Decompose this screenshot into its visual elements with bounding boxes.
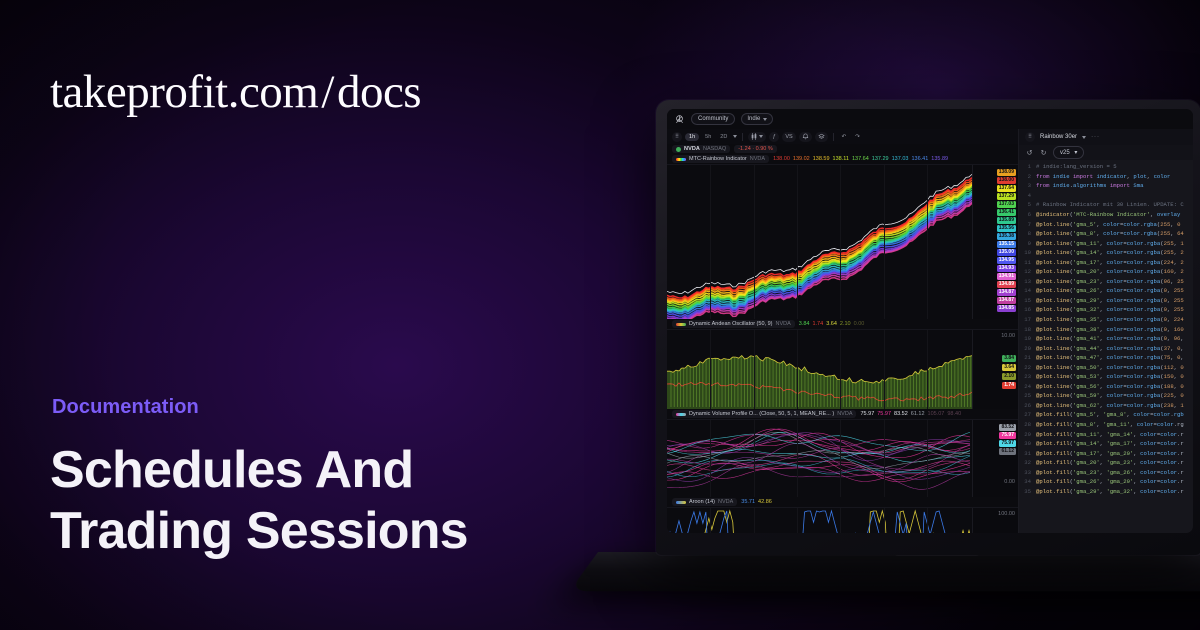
price-tag: 134.89 bbox=[997, 281, 1016, 288]
grip-icon[interactable]: ⠿ bbox=[672, 132, 682, 142]
code-line-number: 28 bbox=[1019, 421, 1036, 428]
brand-section: docs bbox=[337, 66, 421, 118]
value-tag: 61.12 bbox=[999, 448, 1016, 455]
code-line-text: @plot.fill('gma_26', 'gma_29', color=col… bbox=[1036, 478, 1193, 485]
code-line[interactable]: 34@plot.fill('gma_26', 'gma_29', color=c… bbox=[1019, 477, 1193, 487]
code-line-text: @plot.fill('gma_17', 'gma_20', color=col… bbox=[1036, 450, 1193, 457]
chart-panel: ⠿ 1h 5h 2D ƒ VS bbox=[667, 129, 1019, 533]
code-line[interactable]: 29@plot.fill('gma_11', 'gma_14', color=c… bbox=[1019, 429, 1193, 439]
gridline bbox=[710, 330, 711, 409]
value-tag: 1.74 bbox=[1002, 382, 1016, 389]
code-line-number: 10 bbox=[1019, 249, 1036, 256]
code-line[interactable]: 17@plot.line('gma_35', color=color.rgba(… bbox=[1019, 315, 1193, 325]
code-line-text: @plot.fill('gma_11', 'gma_14', color=col… bbox=[1036, 431, 1193, 438]
price-axis[interactable]: 138.09138.00137.64137.29137.03136.41135.… bbox=[972, 165, 1018, 319]
overlay-value: 138.11 bbox=[833, 156, 849, 162]
code-line-text: @plot.line('gma_23', color=color.rgba(96… bbox=[1036, 278, 1193, 285]
hero-content: takeprofit.com/docs Documentation Schedu… bbox=[0, 0, 620, 630]
gridline bbox=[927, 330, 928, 409]
code-line[interactable]: 10@plot.line('gma_14', color=color.rgba(… bbox=[1019, 248, 1193, 258]
andean-chip[interactable]: Dynamic Andean Oscillator (50, 9) NVDA bbox=[672, 320, 795, 328]
overlay-value: 137.64 bbox=[852, 156, 869, 162]
gridline bbox=[840, 165, 841, 319]
code-line-text: @plot.fill('gma_20', 'gma_23', color=col… bbox=[1036, 459, 1193, 466]
code-line-text: @plot.fill('gma_5', 'gma_8', color=color… bbox=[1036, 411, 1193, 418]
overlay-value: 137.03 bbox=[892, 156, 909, 162]
overlay-value: 138.59 bbox=[813, 156, 830, 162]
code-line-number: 8 bbox=[1019, 230, 1036, 237]
code-line-number: 23 bbox=[1019, 373, 1036, 380]
laptop-base bbox=[569, 552, 1200, 591]
price-tag: 135.00 bbox=[997, 249, 1016, 256]
brand-separator: / bbox=[318, 66, 337, 118]
code-line-text: @plot.line('gma_50', color=color.rgba(11… bbox=[1036, 364, 1193, 371]
andean-name: Dynamic Andean Oscillator (50, 9) bbox=[689, 321, 772, 327]
legend-value: 1.74 bbox=[812, 321, 823, 327]
code-line-number: 34 bbox=[1019, 478, 1036, 485]
symbol-exchange: NASDAQ bbox=[703, 146, 726, 152]
page-eyebrow: Documentation bbox=[52, 396, 199, 419]
code-line[interactable]: 3from indie.algorithms import Sma bbox=[1019, 181, 1193, 191]
gridline bbox=[754, 165, 755, 319]
gridline bbox=[754, 330, 755, 409]
andean-symbol: NVDA bbox=[775, 321, 790, 327]
code-line-text: @plot.fill('gma_8', 'gma_11', color=colo… bbox=[1036, 421, 1193, 428]
rainbow-gradient-icon bbox=[676, 158, 686, 161]
price-tag: 137.03 bbox=[997, 201, 1016, 208]
code-line-number: 18 bbox=[1019, 326, 1036, 333]
value-tag: 75.97 bbox=[999, 440, 1016, 447]
price-plot-area[interactable] bbox=[667, 165, 972, 319]
gridline bbox=[884, 330, 885, 409]
code-line-number: 11 bbox=[1019, 259, 1036, 266]
code-line-number: 6 bbox=[1019, 211, 1036, 218]
code-line-number: 17 bbox=[1019, 316, 1036, 323]
aroon-pane[interactable]: 100.00 0.00 42.8635.71 bbox=[667, 507, 1018, 533]
gridline bbox=[797, 508, 798, 533]
price-tag: 137.29 bbox=[997, 193, 1016, 200]
value-tag: 75.97 bbox=[999, 432, 1016, 439]
andean-plot-area[interactable] bbox=[667, 330, 972, 409]
price-tag: 136.41 bbox=[997, 209, 1016, 216]
code-line-text: # indie:lang_version = 5 bbox=[1036, 163, 1193, 170]
page-title: Schedules And Trading Sessions bbox=[50, 440, 580, 562]
toolbar-divider-2 bbox=[833, 133, 834, 141]
legend-value: 105.07 bbox=[928, 411, 945, 417]
aroon-chip[interactable]: Aroon (14) NVDA bbox=[672, 498, 737, 506]
volume-plot-area[interactable] bbox=[667, 420, 972, 497]
overlay-value: 139.02 bbox=[793, 156, 810, 162]
script-chevron-down-icon[interactable] bbox=[1082, 136, 1086, 139]
price-tag: 135.38 bbox=[997, 233, 1016, 240]
community-button[interactable]: Community bbox=[691, 113, 735, 125]
code-line-text: @plot.line('gma_26', color=color.rgba(0,… bbox=[1036, 287, 1193, 294]
brand-name: takeprofit.com bbox=[50, 66, 318, 118]
indie-selector[interactable]: Indie bbox=[741, 113, 773, 125]
value-tag: 2.10 bbox=[1002, 373, 1016, 380]
volume-wave bbox=[667, 467, 970, 481]
oscillator-icon bbox=[676, 323, 686, 326]
aroon-scale-top: 100.00 bbox=[998, 511, 1015, 517]
takeprofit-logo-icon[interactable] bbox=[674, 114, 685, 125]
timeframe-chevron-down-icon[interactable] bbox=[733, 135, 737, 138]
code-line-text: @plot.line('gma_35', color=color.rgba(0,… bbox=[1036, 316, 1193, 323]
code-line-number: 27 bbox=[1019, 411, 1036, 418]
code-line-number: 25 bbox=[1019, 392, 1036, 399]
legend-value: 75.97 bbox=[877, 411, 891, 417]
compare-button[interactable]: VS bbox=[782, 132, 795, 142]
code-line-number: 32 bbox=[1019, 459, 1036, 466]
code-line-number: 26 bbox=[1019, 402, 1036, 409]
aroon-values: 35.7142.86 bbox=[741, 499, 772, 505]
undo-arrow-icon[interactable]: ↶ bbox=[839, 132, 850, 142]
code-line-text: @plot.line('gma_5', color=color.rgba(255… bbox=[1036, 221, 1193, 228]
toolbar-divider bbox=[742, 133, 743, 141]
code-grip-icon[interactable]: ⠿ bbox=[1025, 132, 1035, 142]
price-tag: 135.15 bbox=[997, 241, 1016, 248]
code-line-number: 9 bbox=[1019, 240, 1036, 247]
code-line[interactable]: 32@plot.fill('gma_20', 'gma_23', color=c… bbox=[1019, 458, 1193, 468]
code-editor[interactable]: 1# indie:lang_version = 52from indie imp… bbox=[1019, 160, 1193, 533]
code-line-text: @plot.line('gma_14', color=color.rgba(25… bbox=[1036, 249, 1193, 256]
candlestick-icon[interactable] bbox=[748, 132, 766, 142]
aroon-name: Aroon (14) bbox=[689, 499, 715, 505]
volume-legend: Dynamic Volume Profile O... (Close, 50, … bbox=[667, 409, 1018, 419]
page-title-line1: Schedules And bbox=[50, 441, 413, 499]
code-line-text: @plot.line('gma_32', color=color.rgba(0,… bbox=[1036, 306, 1193, 313]
gridline bbox=[840, 420, 841, 497]
code-line[interactable]: 6@indicator('MTC-Rainbow Indicator', ove… bbox=[1019, 210, 1193, 220]
volume-chip[interactable]: Dynamic Volume Profile O... (Close, 50, … bbox=[672, 410, 856, 418]
volume-scale-bottom: 0.00 bbox=[1004, 479, 1015, 485]
code-undo-arrow-icon[interactable]: ↺ bbox=[1025, 148, 1034, 157]
gridline bbox=[754, 420, 755, 497]
code-line[interactable]: 27@plot.fill('gma_5', 'gma_8', color=col… bbox=[1019, 410, 1193, 420]
overlay-name: MTC-Rainbow Indicator bbox=[689, 156, 747, 162]
code-line-number: 35 bbox=[1019, 488, 1036, 495]
volume-name: Dynamic Volume Profile O... (Close, 50, … bbox=[689, 411, 834, 417]
andean-scale-top: 10.00 bbox=[1001, 333, 1015, 339]
script-name[interactable]: Rainbow 30er bbox=[1040, 134, 1077, 140]
code-line-text: @plot.fill('gma_23', 'gma_26', color=col… bbox=[1036, 469, 1193, 476]
legend-value: 2.10 bbox=[840, 321, 851, 327]
code-line[interactable]: 25@plot.line('gma_59', color=color.rgba(… bbox=[1019, 391, 1193, 401]
aroon-symbol: NVDA bbox=[718, 499, 733, 505]
gridline bbox=[927, 165, 928, 319]
code-line-number: 5 bbox=[1019, 201, 1036, 208]
version-label: v25 bbox=[1060, 150, 1070, 156]
code-line[interactable]: 14@plot.line('gma_26', color=color.rgba(… bbox=[1019, 286, 1193, 296]
code-panel: ⠿ Rainbow 30er ··· ↺ ↻ v25 ▾ 1# indie:la… bbox=[1019, 129, 1193, 533]
code-line-number: 3 bbox=[1019, 182, 1036, 189]
price-tag: 134.95 bbox=[997, 257, 1016, 264]
symbol-chip[interactable]: NVDA NASDAQ bbox=[672, 145, 730, 153]
code-line-number: 24 bbox=[1019, 383, 1036, 390]
andean-pane[interactable]: 10.00 3.843.642.101.74 bbox=[667, 329, 1018, 409]
price-tag: 134.87 bbox=[997, 289, 1016, 296]
code-line[interactable]: 15@plot.line('gma_29', color=color.rgba(… bbox=[1019, 296, 1193, 306]
code-subheader: ↺ ↻ v25 ▾ bbox=[1019, 145, 1193, 160]
app-topbar: Community Indie bbox=[667, 109, 1193, 129]
code-line[interactable]: 1# indie:lang_version = 5 bbox=[1019, 162, 1193, 172]
code-line-number: 4 bbox=[1019, 192, 1036, 199]
brand-wordmark: takeprofit.com/docs bbox=[50, 68, 421, 117]
andean-values: 3.841.743.642.100.00 bbox=[799, 321, 865, 327]
code-line-number: 30 bbox=[1019, 440, 1036, 447]
aroon-axis[interactable]: 100.00 0.00 42.8635.71 bbox=[972, 508, 1018, 533]
legend-value: 3.84 bbox=[799, 321, 810, 327]
gridline bbox=[710, 165, 711, 319]
price-tag: 135.56 bbox=[997, 225, 1016, 232]
andean-axis[interactable]: 10.00 3.843.642.101.74 bbox=[972, 330, 1018, 409]
code-line[interactable]: 9@plot.line('gma_11', color=color.rgba(2… bbox=[1019, 238, 1193, 248]
legend-value: 35.71 bbox=[741, 499, 755, 505]
code-line-text: @plot.line('gma_62', color=color.rgba(23… bbox=[1036, 402, 1193, 409]
andean-legend: Dynamic Andean Oscillator (50, 9) NVDA 3… bbox=[667, 319, 1018, 329]
code-line[interactable]: 33@plot.fill('gma_23', 'gma_26', color=c… bbox=[1019, 468, 1193, 478]
price-tag: 134.93 bbox=[997, 265, 1016, 272]
code-line[interactable]: 13@plot.line('gma_23', color=color.rgba(… bbox=[1019, 277, 1193, 287]
code-line-text: @plot.line('gma_47', color=color.rgba(75… bbox=[1036, 354, 1193, 361]
function-icon[interactable]: ƒ bbox=[769, 132, 779, 142]
overlay-symbol: NVDA bbox=[750, 156, 765, 162]
code-line[interactable]: 35@plot.fill('gma_29', 'gma_32', color=c… bbox=[1019, 487, 1193, 497]
price-tag: 138.09 bbox=[997, 169, 1016, 176]
code-line[interactable]: 26@plot.line('gma_62', color=color.rgba(… bbox=[1019, 401, 1193, 411]
timeframe-1h[interactable]: 1h bbox=[685, 133, 699, 141]
gridline bbox=[797, 330, 798, 409]
value-tag: 3.64 bbox=[1002, 364, 1016, 371]
layers-icon[interactable] bbox=[815, 132, 828, 142]
code-line-number: 16 bbox=[1019, 306, 1036, 313]
gridline bbox=[710, 508, 711, 533]
legend-value: 3.64 bbox=[826, 321, 837, 327]
laptop-screen-bezel: Community Indie ⠿ 1h 5h 2D bbox=[656, 100, 1200, 555]
gridline bbox=[927, 508, 928, 533]
gridline bbox=[840, 508, 841, 533]
symbol-ticker: NVDA bbox=[684, 146, 700, 152]
code-line[interactable]: 8@plot.line('gma_8', color=color.rgba(25… bbox=[1019, 229, 1193, 239]
overlay-legend: MTC-Rainbow Indicator NVDA 138.00139.021… bbox=[667, 154, 1018, 164]
code-line-text: @plot.line('gma_11', color=color.rgba(25… bbox=[1036, 240, 1193, 247]
code-line-text: @plot.line('gma_53', color=color.rgba(15… bbox=[1036, 373, 1193, 380]
volume-pane[interactable]: 0.00 83.5275.9775.9761.12 bbox=[667, 419, 1018, 497]
gridline bbox=[710, 420, 711, 497]
code-line-text: from indie.algorithms import Sma bbox=[1036, 182, 1193, 189]
code-line-text: @plot.line('gma_56', color=color.rgba(18… bbox=[1036, 383, 1193, 390]
code-line[interactable]: 2from indie import indicator, plot, colo… bbox=[1019, 172, 1193, 182]
price-pane[interactable]: 138.09138.00137.64137.29137.03136.41135.… bbox=[667, 164, 1018, 319]
code-line[interactable]: 24@plot.line('gma_56', color=color.rgba(… bbox=[1019, 382, 1193, 392]
code-line[interactable]: 4 bbox=[1019, 191, 1193, 201]
overlay-value: 135.89 bbox=[931, 156, 948, 162]
code-line[interactable]: 11@plot.line('gma_17', color=color.rgba(… bbox=[1019, 257, 1193, 267]
chevron-down-icon bbox=[763, 118, 767, 121]
gridline bbox=[754, 508, 755, 533]
redo-arrow-icon[interactable]: ↷ bbox=[852, 132, 863, 142]
code-line-number: 12 bbox=[1019, 268, 1036, 275]
code-line-text: # Rainbow Indicator mit 30 Linien. UPDAT… bbox=[1036, 201, 1193, 208]
version-chevron-down-icon: ▾ bbox=[1074, 150, 1077, 156]
code-line[interactable]: 12@plot.line('gma_20', color=color.rgba(… bbox=[1019, 267, 1193, 277]
overlay-value: 136.41 bbox=[911, 156, 928, 162]
aroon-plot-area[interactable] bbox=[667, 508, 972, 533]
code-line[interactable]: 18@plot.line('gma_38', color=color.rgba(… bbox=[1019, 324, 1193, 334]
gridline bbox=[884, 420, 885, 497]
overlay-value: 138.00 bbox=[773, 156, 790, 162]
code-line[interactable]: 22@plot.line('gma_50', color=color.rgba(… bbox=[1019, 362, 1193, 372]
legend-value: 0.00 bbox=[854, 321, 865, 327]
code-line[interactable]: 31@plot.fill('gma_17', 'gma_20', color=c… bbox=[1019, 448, 1193, 458]
chart-toolbar: ⠿ 1h 5h 2D ƒ VS bbox=[667, 129, 1018, 144]
symbol-legend: NVDA NASDAQ -1.24 · 0.90 % bbox=[667, 144, 1018, 154]
code-line-number: 31 bbox=[1019, 450, 1036, 457]
code-header: ⠿ Rainbow 30er ··· bbox=[1019, 129, 1193, 145]
gridline bbox=[797, 165, 798, 319]
page-title-line2: Trading Sessions bbox=[50, 502, 468, 560]
value-tag: 3.84 bbox=[1002, 355, 1016, 362]
code-line[interactable]: 16@plot.line('gma_32', color=color.rgba(… bbox=[1019, 305, 1193, 315]
legend-value: 75.97 bbox=[860, 411, 874, 417]
code-redo-arrow-icon[interactable]: ↻ bbox=[1039, 148, 1048, 157]
code-line[interactable]: 5# Rainbow Indicator mit 30 Linien. UPDA… bbox=[1019, 200, 1193, 210]
version-selector[interactable]: v25 ▾ bbox=[1053, 146, 1084, 159]
code-line[interactable]: 23@plot.line('gma_53', color=color.rgba(… bbox=[1019, 372, 1193, 382]
code-line[interactable]: 28@plot.fill('gma_8', 'gma_11', color=co… bbox=[1019, 420, 1193, 430]
aroon-icon bbox=[676, 501, 686, 504]
price-tag: 138.00 bbox=[997, 177, 1016, 184]
code-line-text: @plot.fill('gma_29', 'gma_32', color=col… bbox=[1036, 488, 1193, 495]
overlay-value: 137.29 bbox=[872, 156, 889, 162]
price-tag: 134.87 bbox=[997, 297, 1016, 304]
code-line-number: 20 bbox=[1019, 345, 1036, 352]
code-line-number: 14 bbox=[1019, 287, 1036, 294]
overlay-values: 138.00139.02138.59138.11137.64137.29137.… bbox=[773, 156, 948, 162]
candle-chevron-down-icon bbox=[759, 135, 763, 138]
value-tag: 83.52 bbox=[999, 424, 1016, 431]
code-line-number: 29 bbox=[1019, 431, 1036, 438]
code-line-number: 21 bbox=[1019, 354, 1036, 361]
code-line-text: @plot.line('gma_44', color=color.rgba(37… bbox=[1036, 345, 1193, 352]
code-line-text: @plot.line('gma_17', color=color.rgba(22… bbox=[1036, 259, 1193, 266]
code-line-text: @indicator('MTC-Rainbow Indicator', over… bbox=[1036, 211, 1193, 218]
code-line-text: @plot.line('gma_41', color=color.rgba(0,… bbox=[1036, 335, 1193, 342]
code-line-text: @plot.line('gma_20', color=color.rgba(16… bbox=[1036, 268, 1193, 275]
code-line-number: 19 bbox=[1019, 335, 1036, 342]
alert-bell-icon[interactable] bbox=[799, 132, 812, 142]
volume-values: 75.9775.9783.5261.12105.0798.40 bbox=[860, 411, 961, 417]
code-line-number: 33 bbox=[1019, 469, 1036, 476]
code-line-text: @plot.line('gma_8', color=color.rgba(255… bbox=[1036, 230, 1193, 237]
legend-value: 98.40 bbox=[947, 411, 961, 417]
volume-axis[interactable]: 0.00 83.5275.9775.9761.12 bbox=[972, 420, 1018, 497]
indie-label: Indie bbox=[747, 116, 760, 122]
price-tag: 135.89 bbox=[997, 217, 1016, 224]
legend-value: 83.52 bbox=[894, 411, 908, 417]
code-line[interactable]: 7@plot.line('gma_5', color=color.rgba(25… bbox=[1019, 219, 1193, 229]
timeframe-2d[interactable]: 2D bbox=[717, 134, 730, 140]
code-line-number: 22 bbox=[1019, 364, 1036, 371]
code-line-number: 2 bbox=[1019, 173, 1036, 180]
symbol-change: -1.24 · 0.90 % bbox=[734, 145, 777, 153]
aroon-legend: Aroon (14) NVDA 35.7142.86 bbox=[667, 497, 1018, 507]
price-tag: 134.85 bbox=[997, 305, 1016, 312]
code-line-text: @plot.line('gma_29', color=color.rgba(0,… bbox=[1036, 297, 1193, 304]
code-line[interactable]: 19@plot.line('gma_41', color=color.rgba(… bbox=[1019, 334, 1193, 344]
code-line[interactable]: 20@plot.line('gma_44', color=color.rgba(… bbox=[1019, 343, 1193, 353]
gridline bbox=[884, 165, 885, 319]
code-line-text: @plot.line('gma_59', color=color.rgba(22… bbox=[1036, 392, 1193, 399]
market-open-icon bbox=[676, 147, 681, 152]
ellipsis-icon[interactable]: ··· bbox=[1091, 134, 1100, 140]
volume-symbol: NVDA bbox=[837, 411, 852, 417]
app-main: ⠿ 1h 5h 2D ƒ VS bbox=[667, 129, 1193, 533]
laptop-mockup: Community Indie ⠿ 1h 5h 2D bbox=[656, 100, 1200, 580]
code-line-text: @plot.fill('gma_14', 'gma_17', color=col… bbox=[1036, 440, 1193, 447]
gridline bbox=[840, 330, 841, 409]
price-tag: 137.64 bbox=[997, 185, 1016, 192]
code-line-text: from indie import indicator, plot, color bbox=[1036, 173, 1193, 180]
code-line[interactable]: 30@plot.fill('gma_14', 'gma_17', color=c… bbox=[1019, 439, 1193, 449]
code-line-number: 1 bbox=[1019, 163, 1036, 170]
gridline bbox=[927, 420, 928, 497]
code-line[interactable]: 21@plot.line('gma_47', color=color.rgba(… bbox=[1019, 353, 1193, 363]
price-tag: 134.91 bbox=[997, 273, 1016, 280]
volume-profile-icon bbox=[676, 413, 686, 416]
code-line-number: 15 bbox=[1019, 297, 1036, 304]
code-line-number: 13 bbox=[1019, 278, 1036, 285]
code-line-number: 7 bbox=[1019, 221, 1036, 228]
code-line-text: @plot.line('gma_38', color=color.rgba(0,… bbox=[1036, 326, 1193, 333]
overlay-chip[interactable]: MTC-Rainbow Indicator NVDA bbox=[672, 155, 769, 163]
gridline bbox=[884, 508, 885, 533]
timeframe-5h[interactable]: 5h bbox=[702, 134, 714, 140]
legend-value: 61.12 bbox=[911, 411, 925, 417]
trading-app: Community Indie ⠿ 1h 5h 2D bbox=[667, 109, 1193, 533]
legend-value: 42.86 bbox=[758, 499, 772, 505]
gridline bbox=[797, 420, 798, 497]
